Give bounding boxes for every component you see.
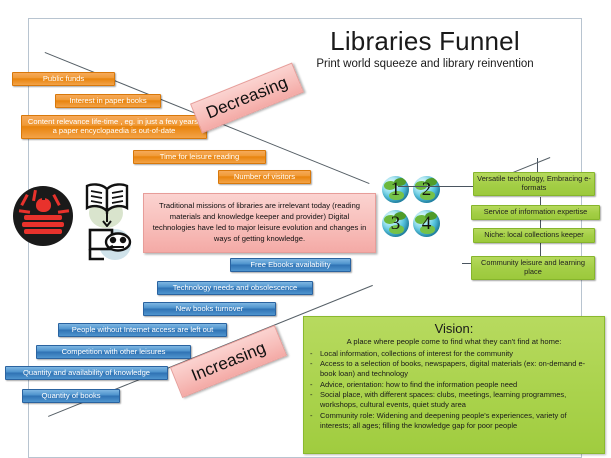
page-subtitle: Print world squeeze and library reinvent… [255, 58, 595, 70]
outcome-community-leisure[interactable]: Community leisure and learning place [471, 256, 595, 280]
list-item: - Local information, collections of inte… [310, 349, 598, 359]
decreasing-item-interest-paper-books[interactable]: Interest in paper books [55, 94, 161, 108]
bullet-text: Access to a selection of books, newspape… [320, 359, 598, 379]
apple-and-books-icon [13, 186, 73, 246]
globe-1-number: 1 [382, 176, 409, 203]
bullet-marker: - [310, 359, 320, 379]
vision-bullet-list: - Local information, collections of inte… [310, 349, 598, 431]
globe-4: 4 [413, 210, 440, 237]
globe-3: 3 [382, 210, 409, 237]
increasing-item-free-ebooks[interactable]: Free Ebooks availability [230, 258, 351, 272]
increasing-item-quantity-books[interactable]: Quantity of books [22, 389, 120, 403]
decreasing-item-leisure-reading[interactable]: Time for leisure reading [133, 150, 266, 164]
list-item: - Community role: Widening and deepening… [310, 411, 598, 431]
decreasing-item-number-visitors[interactable]: Number of visitors [218, 170, 311, 184]
vision-panel: Vision: A place where people come to fin… [303, 316, 605, 454]
increasing-item-books-turnover[interactable]: New books turnover [143, 302, 276, 316]
globe-1: 1 [382, 176, 409, 203]
bullet-marker: - [310, 349, 320, 359]
bullet-marker: - [310, 411, 320, 431]
outcome-information-expertise[interactable]: Service of information expertise [471, 205, 600, 220]
bullet-text: Social place, with different spaces: clu… [320, 390, 598, 410]
list-item: - Advice, orientation: how to find the i… [310, 380, 598, 390]
decreasing-item-public-funds[interactable]: Public funds [12, 72, 115, 86]
globe-3-number: 3 [382, 210, 409, 237]
bullet-text: Local information, collections of intere… [320, 349, 598, 359]
bullet-text: Community role: Widening and deepening p… [320, 411, 598, 431]
decreasing-item-content-relevance[interactable]: Content relevance life-time , eg. in jus… [21, 115, 207, 139]
bullet-text: Advice, orientation: how to find the inf… [320, 380, 598, 390]
vision-lead: A place where people come to find what t… [310, 337, 598, 346]
globe-2-number: 2 [413, 176, 440, 203]
connector-globes-horizontal [398, 186, 476, 187]
list-item: - Access to a selection of books, newspa… [310, 359, 598, 379]
outcome-versatile-technology[interactable]: Versatile technology, Embracing e-format… [473, 172, 595, 196]
increasing-item-technology-needs[interactable]: Technology needs and obsolescence [157, 281, 313, 295]
bullet-marker: - [310, 390, 320, 410]
increasing-item-internet-access[interactable]: People without Internet access are left … [58, 323, 227, 337]
outcome-local-collections[interactable]: Niche: local collections keeper [473, 228, 595, 243]
globe-2: 2 [413, 176, 440, 203]
page-title: Libraries Funnel [275, 26, 575, 57]
increasing-item-quantity-knowledge[interactable]: Quantity and availability of knowledge [5, 366, 168, 380]
globe-4-number: 4 [413, 210, 440, 237]
bullet-marker: - [310, 380, 320, 390]
increasing-item-competition-leisures[interactable]: Competition with other leisures [36, 345, 191, 359]
vision-heading: Vision: [310, 321, 598, 336]
open-book-icon [85, 182, 129, 228]
center-message: Traditional missions of libraries are ir… [143, 193, 376, 253]
slide-canvas: Libraries Funnel Print world squeeze and… [0, 0, 611, 458]
list-item: - Social place, with different spaces: c… [310, 390, 598, 410]
computer-monitor-icon [88, 226, 132, 262]
